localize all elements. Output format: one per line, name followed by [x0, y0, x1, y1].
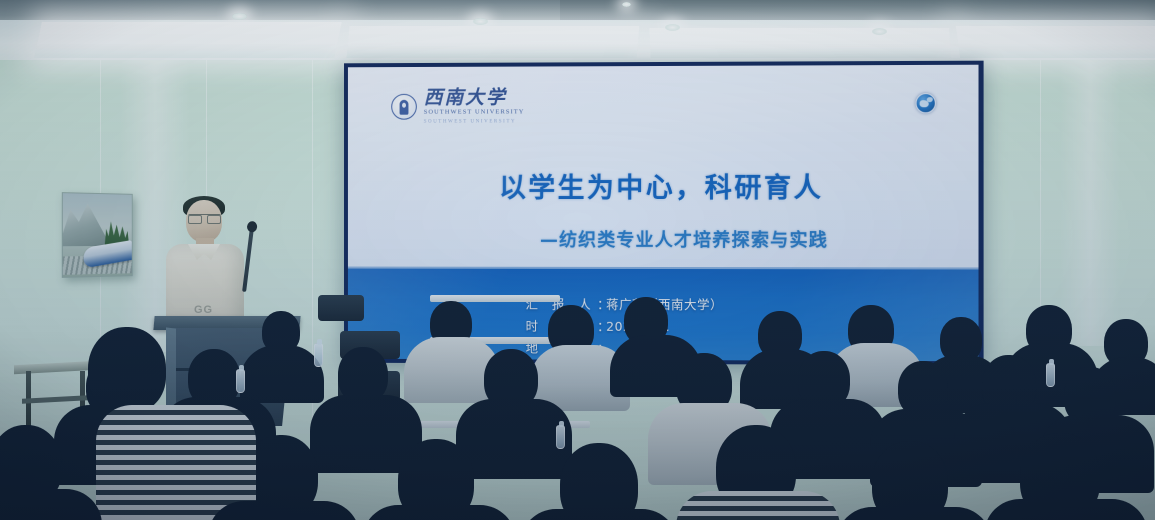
downlight-icon: [622, 2, 631, 7]
wall-seam: [312, 50, 313, 430]
wall-sheen: [1060, 56, 1120, 346]
meta-colon: ：: [597, 294, 606, 316]
slide-meta-block: 汇 报 人 ： 蒋广萍（西南大学） 时 间 ： 2023. 07. 地 点 ：: [526, 294, 723, 361]
meta-colon: ：: [597, 338, 606, 360]
desk-shelf: [22, 395, 88, 403]
lectern: [154, 316, 300, 426]
wall-seam: [1040, 56, 1041, 356]
meta-colon: ：: [597, 316, 606, 338]
university-logo: 西南大学 SOUTHWEST UNIVERSITY SOUTHWEST UNIV…: [391, 88, 524, 124]
university-name-en-secondary: SOUTHWEST UNIVERSITY: [424, 119, 525, 124]
ceiling-light-panel: [649, 28, 951, 58]
meta-row-place: 地 点 ：: [526, 338, 723, 361]
meta-value-presenter: 蒋广萍（西南大学）: [606, 294, 723, 316]
slide-title: 以学生为中心，科研育人: [348, 166, 979, 205]
ceiling-light-panel: [347, 26, 640, 58]
slide-surface: 西南大学 SOUTHWEST UNIVERSITY SOUTHWEST UNIV…: [348, 65, 979, 362]
lectern-body: [168, 328, 292, 426]
downlight-icon: [473, 18, 488, 25]
lecture-hall-scene: 西南大学 SOUTHWEST UNIVERSITY SOUTHWEST UNIV…: [0, 0, 1155, 520]
ceiling-light-panel: [956, 26, 1155, 58]
university-logo-text: 西南大学 SOUTHWEST UNIVERSITY SOUTHWEST UNIV…: [424, 88, 525, 124]
university-name-en: SOUTHWEST UNIVERSITY: [424, 109, 525, 116]
globe-icon: [916, 93, 936, 113]
meta-row-presenter: 汇 报 人 ： 蒋广萍（西南大学）: [526, 294, 723, 316]
glasses-icon: [188, 214, 221, 221]
projection-screen: 西南大学 SOUTHWEST UNIVERSITY SOUTHWEST UNIV…: [344, 61, 984, 366]
lectern-shelf: [176, 368, 284, 371]
meta-label-place: 地 点: [526, 338, 598, 360]
meta-row-time: 时 间 ： 2023. 07.: [526, 316, 723, 339]
shirt-logo: GG: [194, 304, 213, 316]
slide-subtitle: —纺织类专业人才培养探索与实践: [348, 226, 979, 252]
downlight-icon: [872, 28, 887, 35]
meta-label-presenter: 汇 报 人: [526, 294, 598, 316]
ceiling-soffit-right: [560, 0, 1155, 22]
meta-value-time: 2023. 07.: [606, 316, 670, 338]
framed-train-photo: [62, 192, 133, 278]
side-desk: [14, 363, 98, 433]
downlight-icon: [665, 24, 680, 31]
downlight-icon: [232, 13, 247, 20]
ceiling-light-panel: [34, 22, 342, 58]
university-name-cn: 西南大学: [424, 88, 525, 107]
meta-label-time: 时 间: [526, 316, 598, 338]
desk-leg: [80, 371, 85, 433]
university-seal-icon: [391, 94, 417, 120]
lectern-edge: [166, 327, 176, 424]
